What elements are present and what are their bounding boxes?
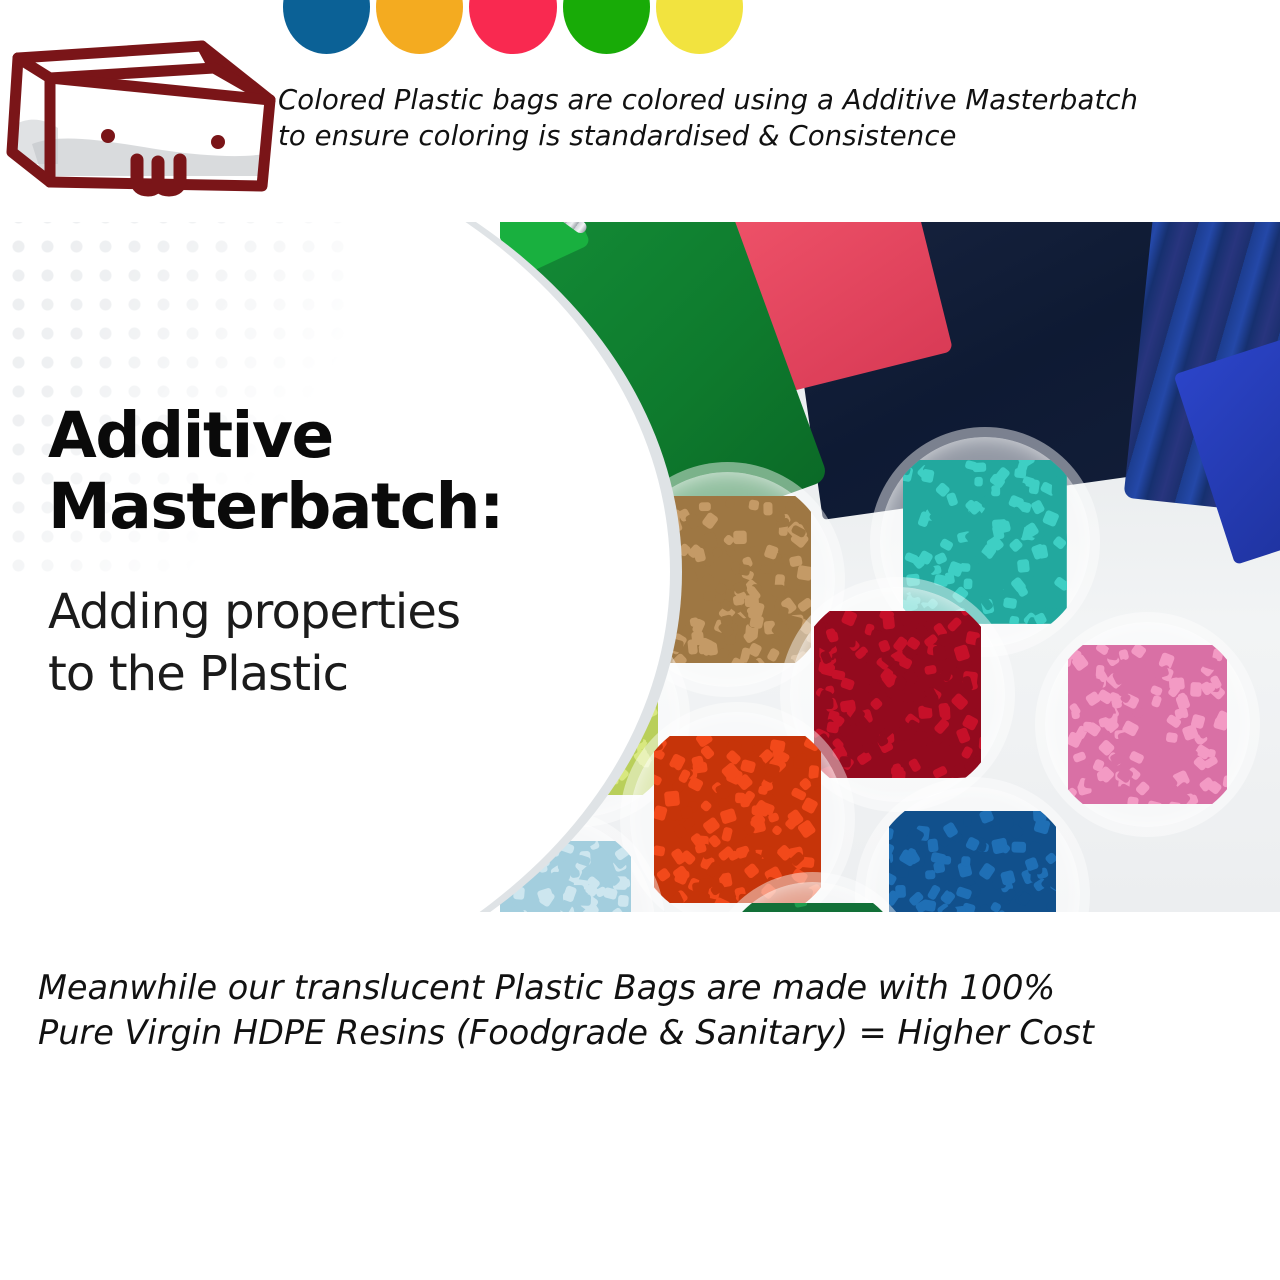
color-swatch-yellow [656, 0, 743, 54]
box-eye-left [101, 129, 115, 143]
poster-subtitle: Adding properties to the Plastic [48, 581, 648, 705]
poster-title-line-1: Additive [48, 400, 648, 471]
bottom-caption-line-1: Meanwhile our translucent Plastic Bags a… [38, 965, 1258, 1010]
color-swatch-blue [283, 0, 370, 54]
box-eye-right [211, 135, 225, 149]
crimson-pellets [814, 611, 982, 779]
bottom-caption-line-2: Pure Virgin HDPE Resins (Foodgrade & San… [38, 1010, 1258, 1055]
green-pellets [736, 903, 888, 912]
poster-card: Additive Masterbatch: Adding properties … [0, 222, 1280, 912]
poster-title-line-2: Masterbatch: [48, 471, 648, 542]
box-mouth [137, 160, 180, 190]
box-doodle-icon [2, 24, 282, 204]
top-caption: Colored Plastic bags are colored using a… [278, 82, 1268, 154]
color-swatch-green [563, 0, 650, 54]
top-caption-line-2: to ensure coloring is standardised & Con… [278, 118, 1268, 154]
color-swatch-orange [376, 0, 463, 54]
poster-subtitle-line-2: to the Plastic [48, 643, 648, 705]
bottom-caption: Meanwhile our translucent Plastic Bags a… [38, 965, 1258, 1055]
poster-subtitle-line-1: Adding properties [48, 581, 648, 643]
cardboard-box-doodle [2, 24, 282, 204]
pellet-bowl [1045, 622, 1250, 827]
color-swatch-row [283, 0, 743, 55]
orange-pellets [654, 736, 822, 904]
poster-text-block: Additive Masterbatch: Adding properties … [48, 400, 648, 705]
blue-pellets [889, 811, 1057, 912]
top-caption-line-1: Colored Plastic bags are colored using a… [278, 82, 1268, 118]
color-swatch-red [469, 0, 556, 54]
pink-pellets [1068, 645, 1228, 805]
poster-title: Additive Masterbatch: [48, 400, 648, 542]
